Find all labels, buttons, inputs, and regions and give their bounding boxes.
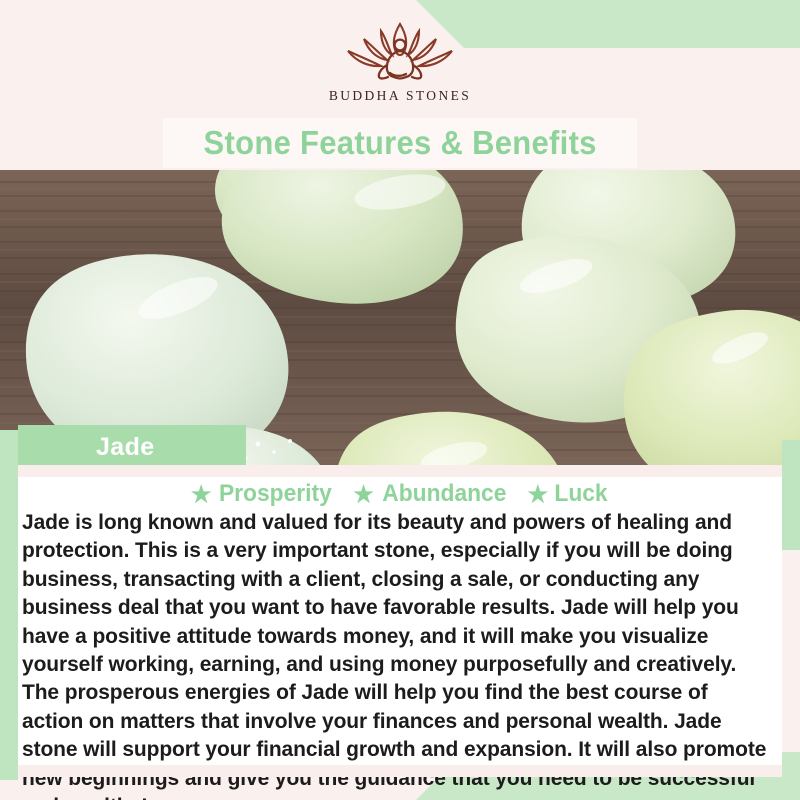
star-icon: ★ (191, 483, 212, 506)
page-title: Stone Features & Benefits (203, 124, 596, 162)
lotus-meditation-icon (334, 18, 466, 84)
keyword-item-abundance: ★ Abundance (353, 480, 509, 508)
keyword-label: Abundance (382, 480, 506, 508)
keyword-label: Luck (555, 480, 608, 508)
star-icon: ★ (528, 483, 549, 506)
stone-photo-illustration (0, 170, 800, 465)
panel-bottom-strip (18, 765, 782, 777)
left-accent-bar (0, 430, 18, 780)
keyword-label: Prosperity (219, 480, 332, 508)
brand-logo: BUDDHA STONES (0, 18, 800, 104)
right-accent-bar (782, 440, 800, 550)
keyword-item-prosperity: ★ Prosperity (191, 480, 335, 508)
stone-name-label: Jade (96, 433, 155, 462)
brand-name: BUDDHA STONES (329, 88, 471, 104)
panel-top-strip (18, 465, 782, 477)
title-banner: Stone Features & Benefits (163, 118, 637, 168)
keyword-list: ★ Prosperity ★ Abundance ★ Luck (18, 479, 782, 509)
stone-info-card: BUDDHA STONES Stone Features & Benefits (0, 0, 800, 800)
stone-name-band: Jade (18, 425, 246, 470)
stone-photo (0, 170, 800, 465)
keyword-item-luck: ★ Luck (528, 480, 610, 508)
star-icon: ★ (353, 483, 374, 506)
description-text: Jade is long known and valued for its be… (22, 508, 771, 800)
